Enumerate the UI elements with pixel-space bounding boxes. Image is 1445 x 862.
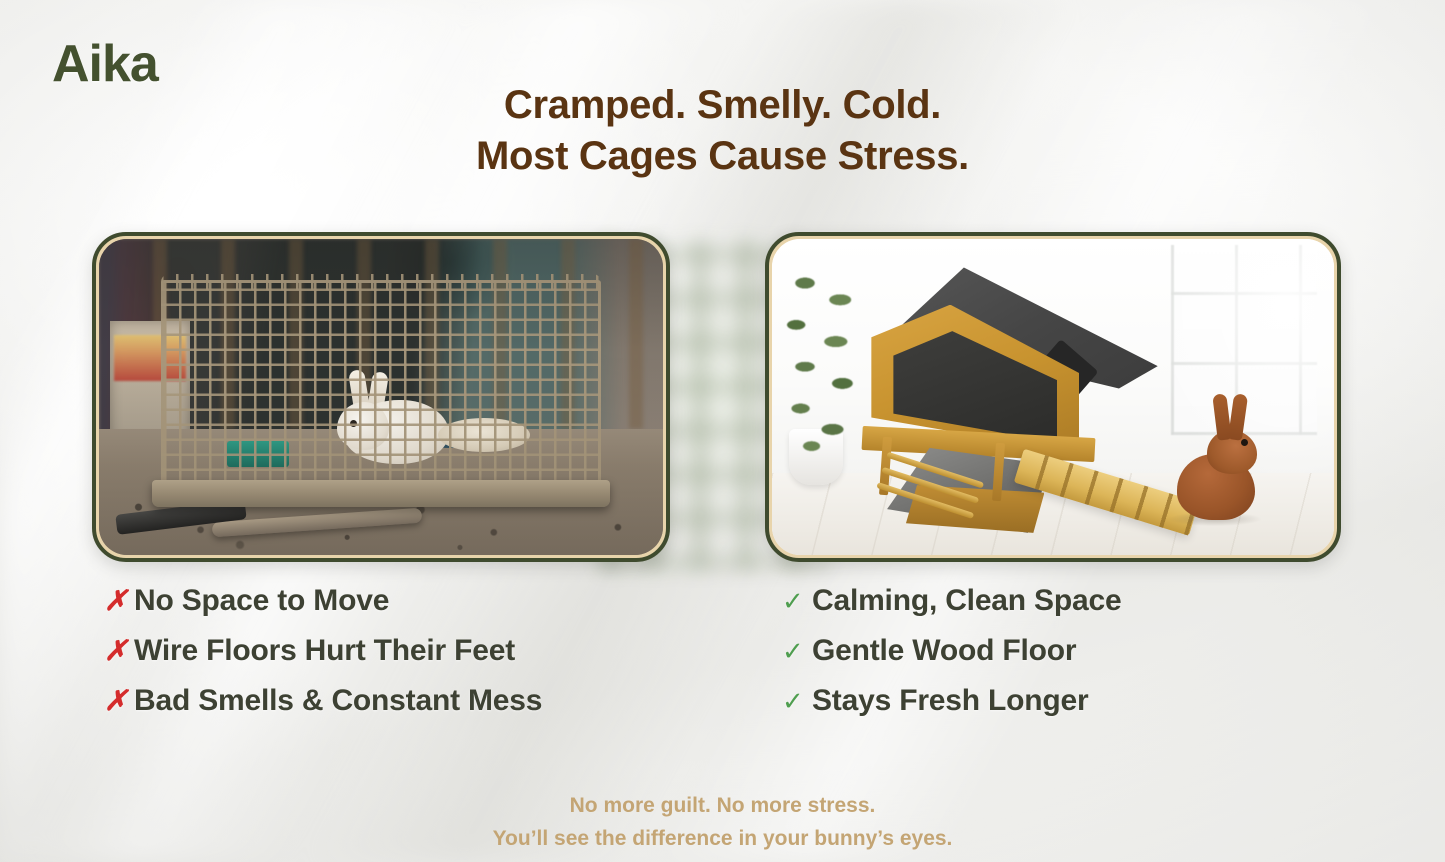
wooden-rabbit-hutch: [862, 267, 1177, 532]
problem-list-item: ✗ Bad Smells & Constant Mess: [104, 686, 542, 716]
check-icon: ✓: [782, 588, 812, 614]
room-scene: [772, 239, 1334, 555]
comparison-poster: Aika Cramped. Smelly. Cold. Most Cages C…: [0, 0, 1445, 862]
benefit-list: ✓ Calming, Clean Space ✓ Gentle Wood Flo…: [782, 586, 1121, 736]
cross-icon: ✗: [104, 687, 134, 715]
footer-tagline: No more guilt. No more stress. You’ll se…: [0, 790, 1445, 855]
footer-line-1: No more guilt. No more stress.: [0, 790, 1445, 823]
cross-icon: ✗: [104, 637, 134, 665]
check-icon: ✓: [782, 688, 812, 714]
benefit-list-item-label: Stays Fresh Longer: [812, 686, 1088, 716]
headline: Cramped. Smelly. Cold. Most Cages Cause …: [0, 80, 1445, 182]
panel-problem-image: [92, 232, 670, 562]
problem-list-item-label: No Space to Move: [134, 586, 389, 616]
benefit-list-item-label: Gentle Wood Floor: [812, 636, 1076, 666]
hutch-step: [876, 482, 974, 519]
garage-cage-photo: [99, 239, 663, 555]
garage-color-grade: [99, 239, 663, 555]
benefit-list-item: ✓ Stays Fresh Longer: [782, 686, 1121, 716]
cross-icon: ✗: [104, 587, 134, 615]
free-brown-rabbit: [1165, 402, 1261, 520]
problem-list-item-label: Bad Smells & Constant Mess: [134, 686, 542, 716]
garage-scene: [99, 239, 663, 555]
panel-solution-image: [765, 232, 1341, 562]
benefit-list-item-label: Calming, Clean Space: [812, 586, 1121, 616]
footer-line-2: You’ll see the difference in your bunny’…: [0, 823, 1445, 856]
problem-list: ✗ No Space to Move ✗ Wire Floors Hurt Th…: [104, 586, 542, 736]
bright-room-photo: [772, 239, 1334, 555]
problem-list-item: ✗ No Space to Move: [104, 586, 542, 616]
headline-line-2: Most Cages Cause Stress.: [0, 131, 1445, 182]
problem-list-item-label: Wire Floors Hurt Their Feet: [134, 636, 515, 666]
problem-list-item: ✗ Wire Floors Hurt Their Feet: [104, 636, 542, 666]
headline-line-1: Cramped. Smelly. Cold.: [0, 80, 1445, 131]
benefit-list-item: ✓ Calming, Clean Space: [782, 586, 1121, 616]
benefit-list-item: ✓ Gentle Wood Floor: [782, 636, 1121, 666]
check-icon: ✓: [782, 638, 812, 664]
